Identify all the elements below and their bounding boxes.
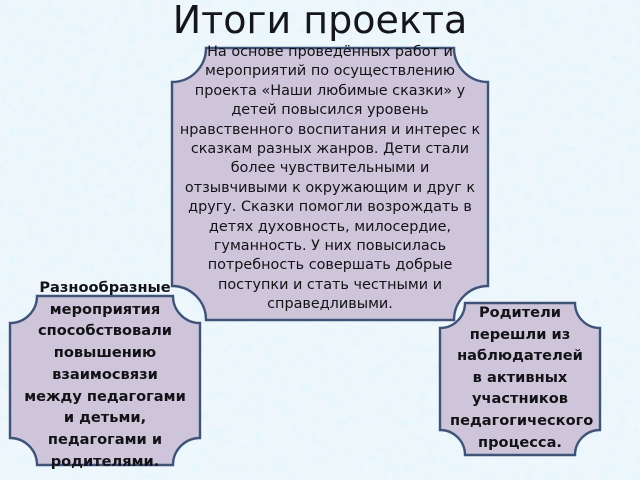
parent-participation-text: Родители перешли из наблюдателей в актив…	[440, 302, 600, 453]
project-results-summary-box: На основе проведённых работ и мероприяти…	[172, 48, 488, 320]
slide-canvas: Итоги проекта На основе проведённых рабо…	[0, 0, 640, 480]
teacher-child-interaction-box: Разнообразные мероприятия способствовали…	[10, 296, 200, 465]
page-title: Итоги проекта	[0, 0, 640, 42]
teacher-child-interaction-text: Разнообразные мероприятия способствовали…	[10, 277, 200, 472]
parent-participation-box: Родители перешли из наблюдателей в актив…	[440, 303, 600, 455]
project-results-summary-text: На основе проведённых работ и мероприяти…	[172, 43, 488, 315]
